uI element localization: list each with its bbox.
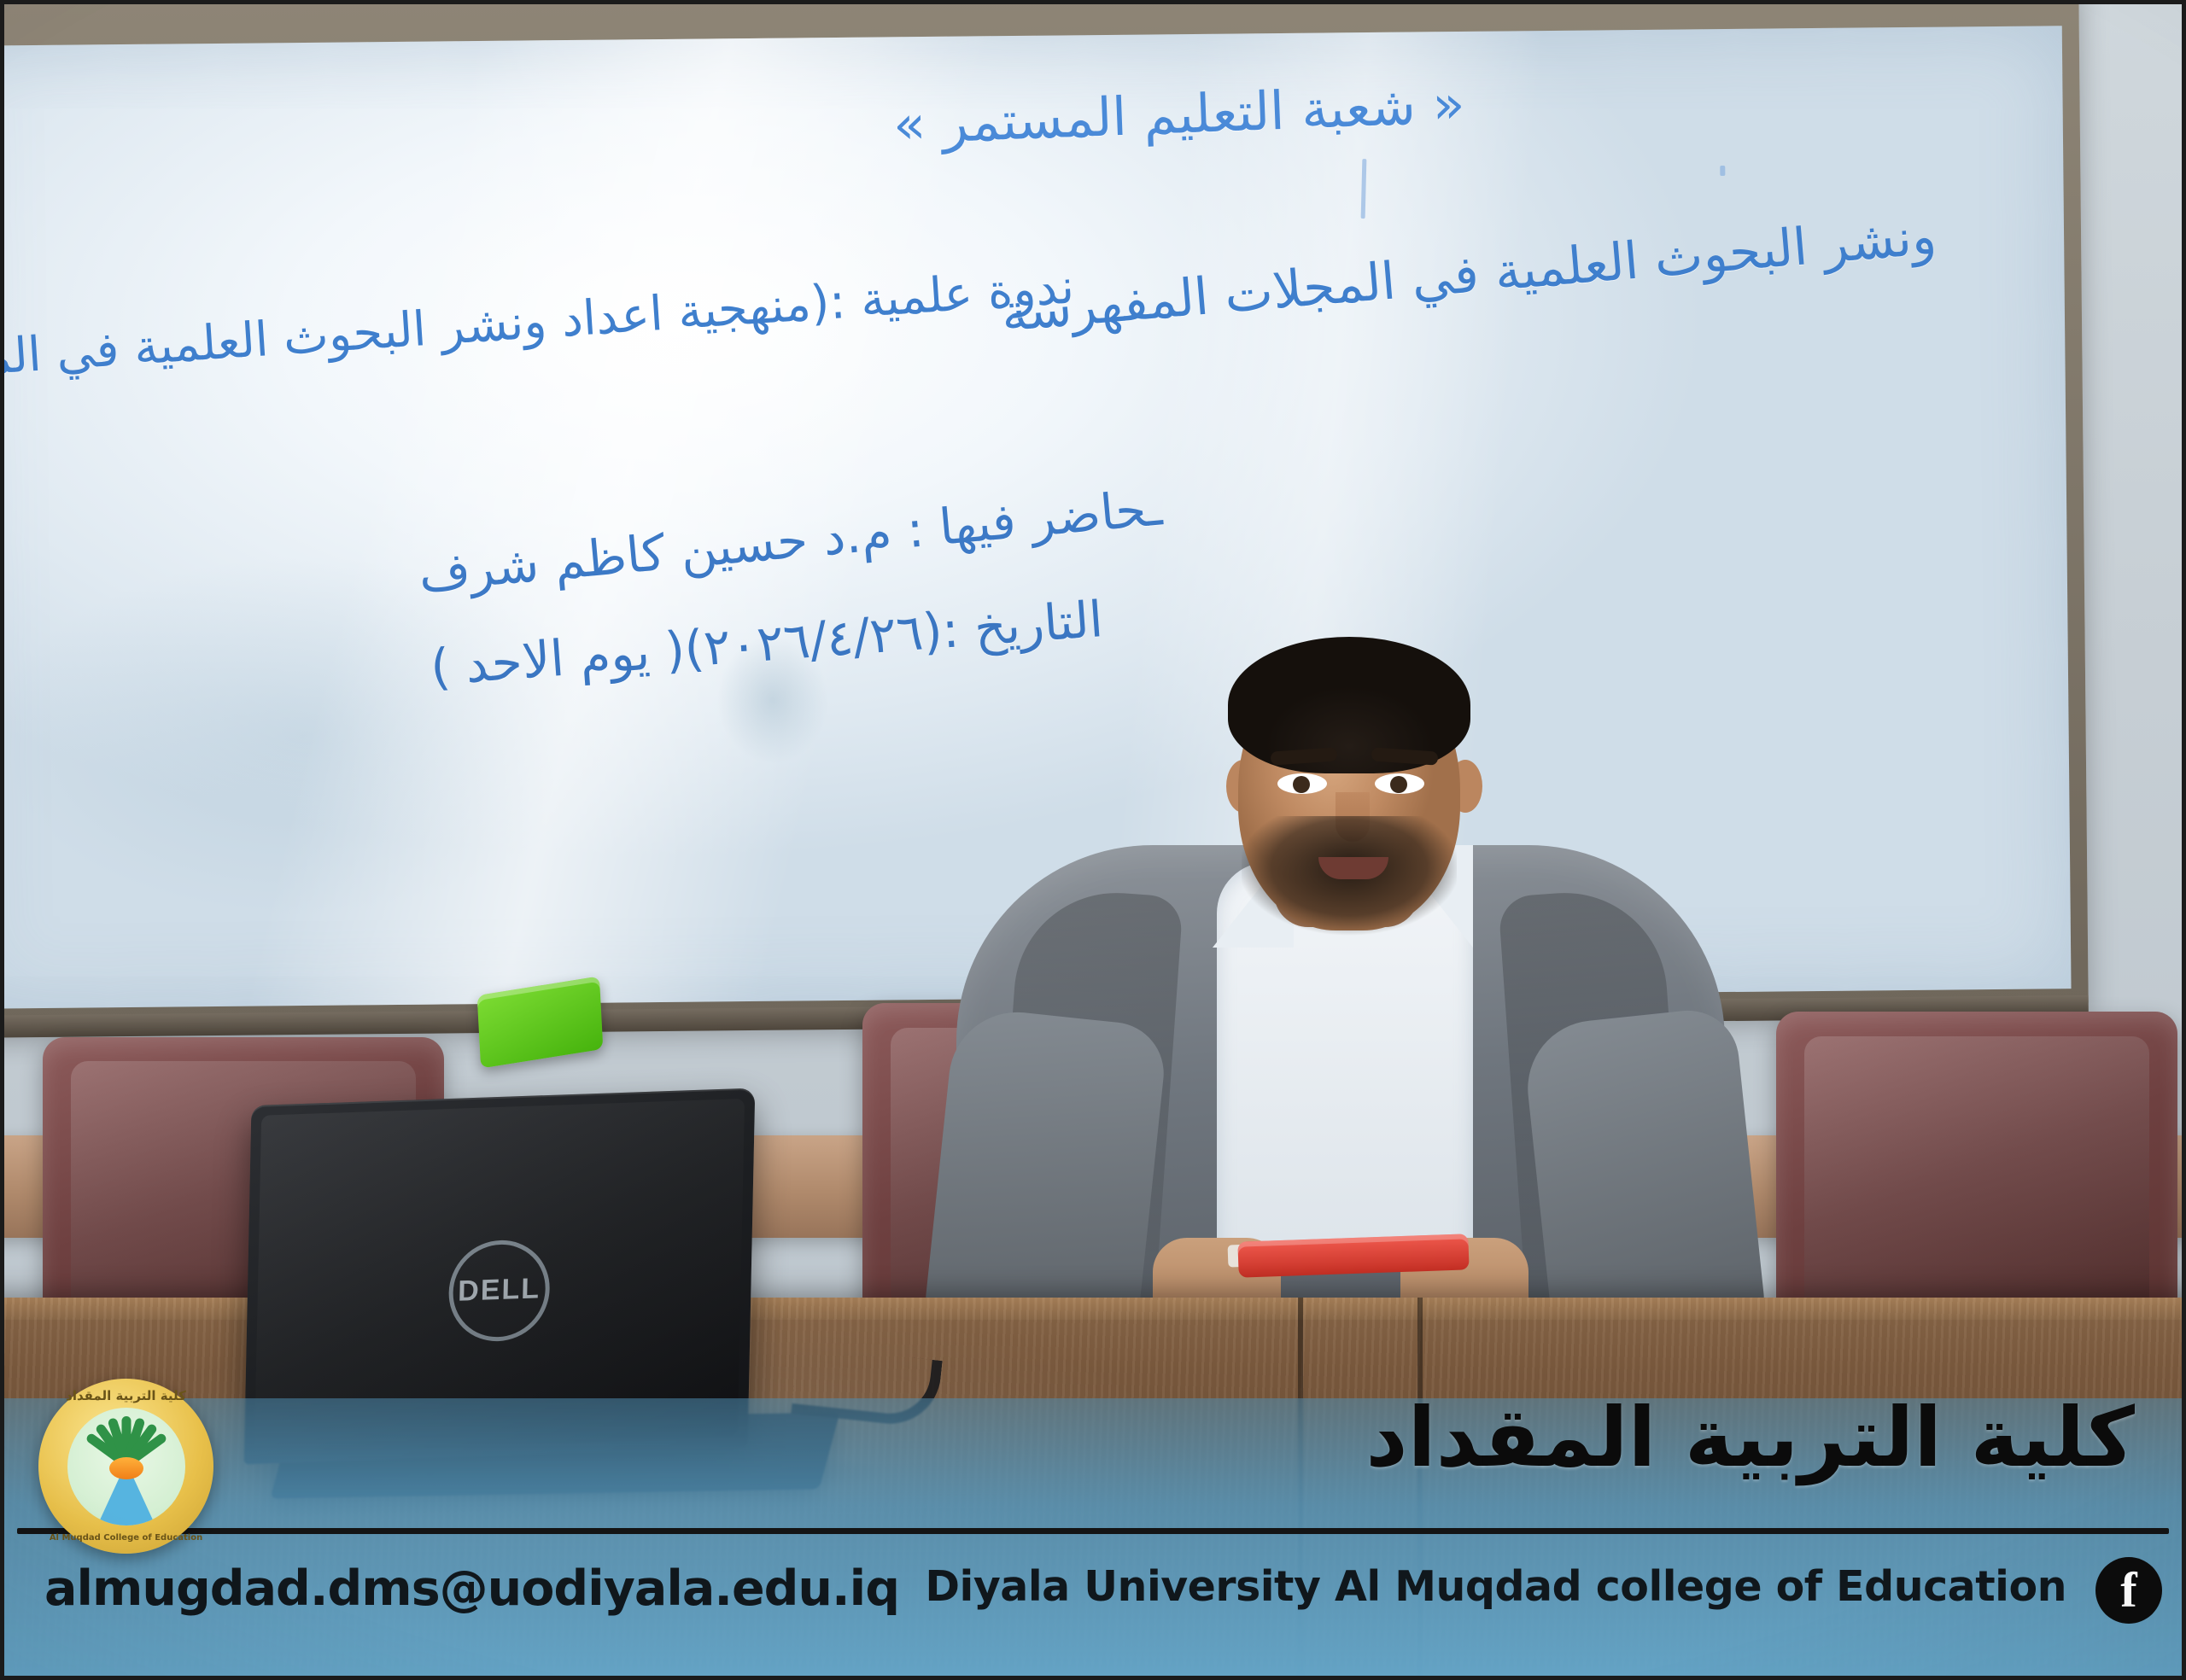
footer-email-text[interactable]: almugdad.dms@uodiyala.edu.iq: [44, 1560, 899, 1617]
logo-sun: [109, 1457, 143, 1479]
mouth: [1318, 857, 1388, 879]
footer-college-name-ar: كلية التربية المقداد: [1365, 1390, 2135, 1485]
eye-left: [1277, 773, 1327, 794]
facebook-icon[interactable]: f: [2095, 1557, 2162, 1624]
arm-right: [1521, 1006, 1766, 1342]
whiteboard-seminar-tail-text: ونشر البحوث العلمية في المجلات المفهرسة: [999, 207, 1938, 344]
seated-presenter: [956, 649, 1725, 1349]
beard: [1242, 816, 1457, 944]
whiteboard-title-text: « شعبة التعليم المستمر »: [892, 73, 1466, 156]
dell-logo: DELL: [447, 1239, 550, 1343]
eye-right: [1375, 773, 1424, 794]
whiteboard-seminar-text: ندوة علمية :(منهجية اعداد ونشر البحوث ال…: [0, 259, 1076, 405]
logo-inner-disc: [67, 1408, 185, 1525]
photo-stage: « شعبة التعليم المستمر » ونشر البحوث الع…: [0, 0, 2186, 1680]
whiteboard-lecturer-text: ـحاضر فيها : م.د حسين كاظم شرف: [416, 479, 1164, 604]
marker-stroke-mark: [1720, 166, 1725, 176]
college-seal-logo: كلية التربية المقداد Al Muqdad College o…: [38, 1379, 213, 1554]
logo-ring-text-english: Al Muqdad College of Education: [38, 1534, 213, 1543]
footer-college-name-en: Diyala University Al Muqdad college of E…: [925, 1562, 2066, 1611]
marker-stroke-mark: [1361, 159, 1367, 219]
footer-divider-line: [17, 1528, 2169, 1534]
logo-ring-text-arabic: كلية التربية المقداد: [38, 1390, 213, 1403]
arm-left: [923, 1006, 1168, 1342]
